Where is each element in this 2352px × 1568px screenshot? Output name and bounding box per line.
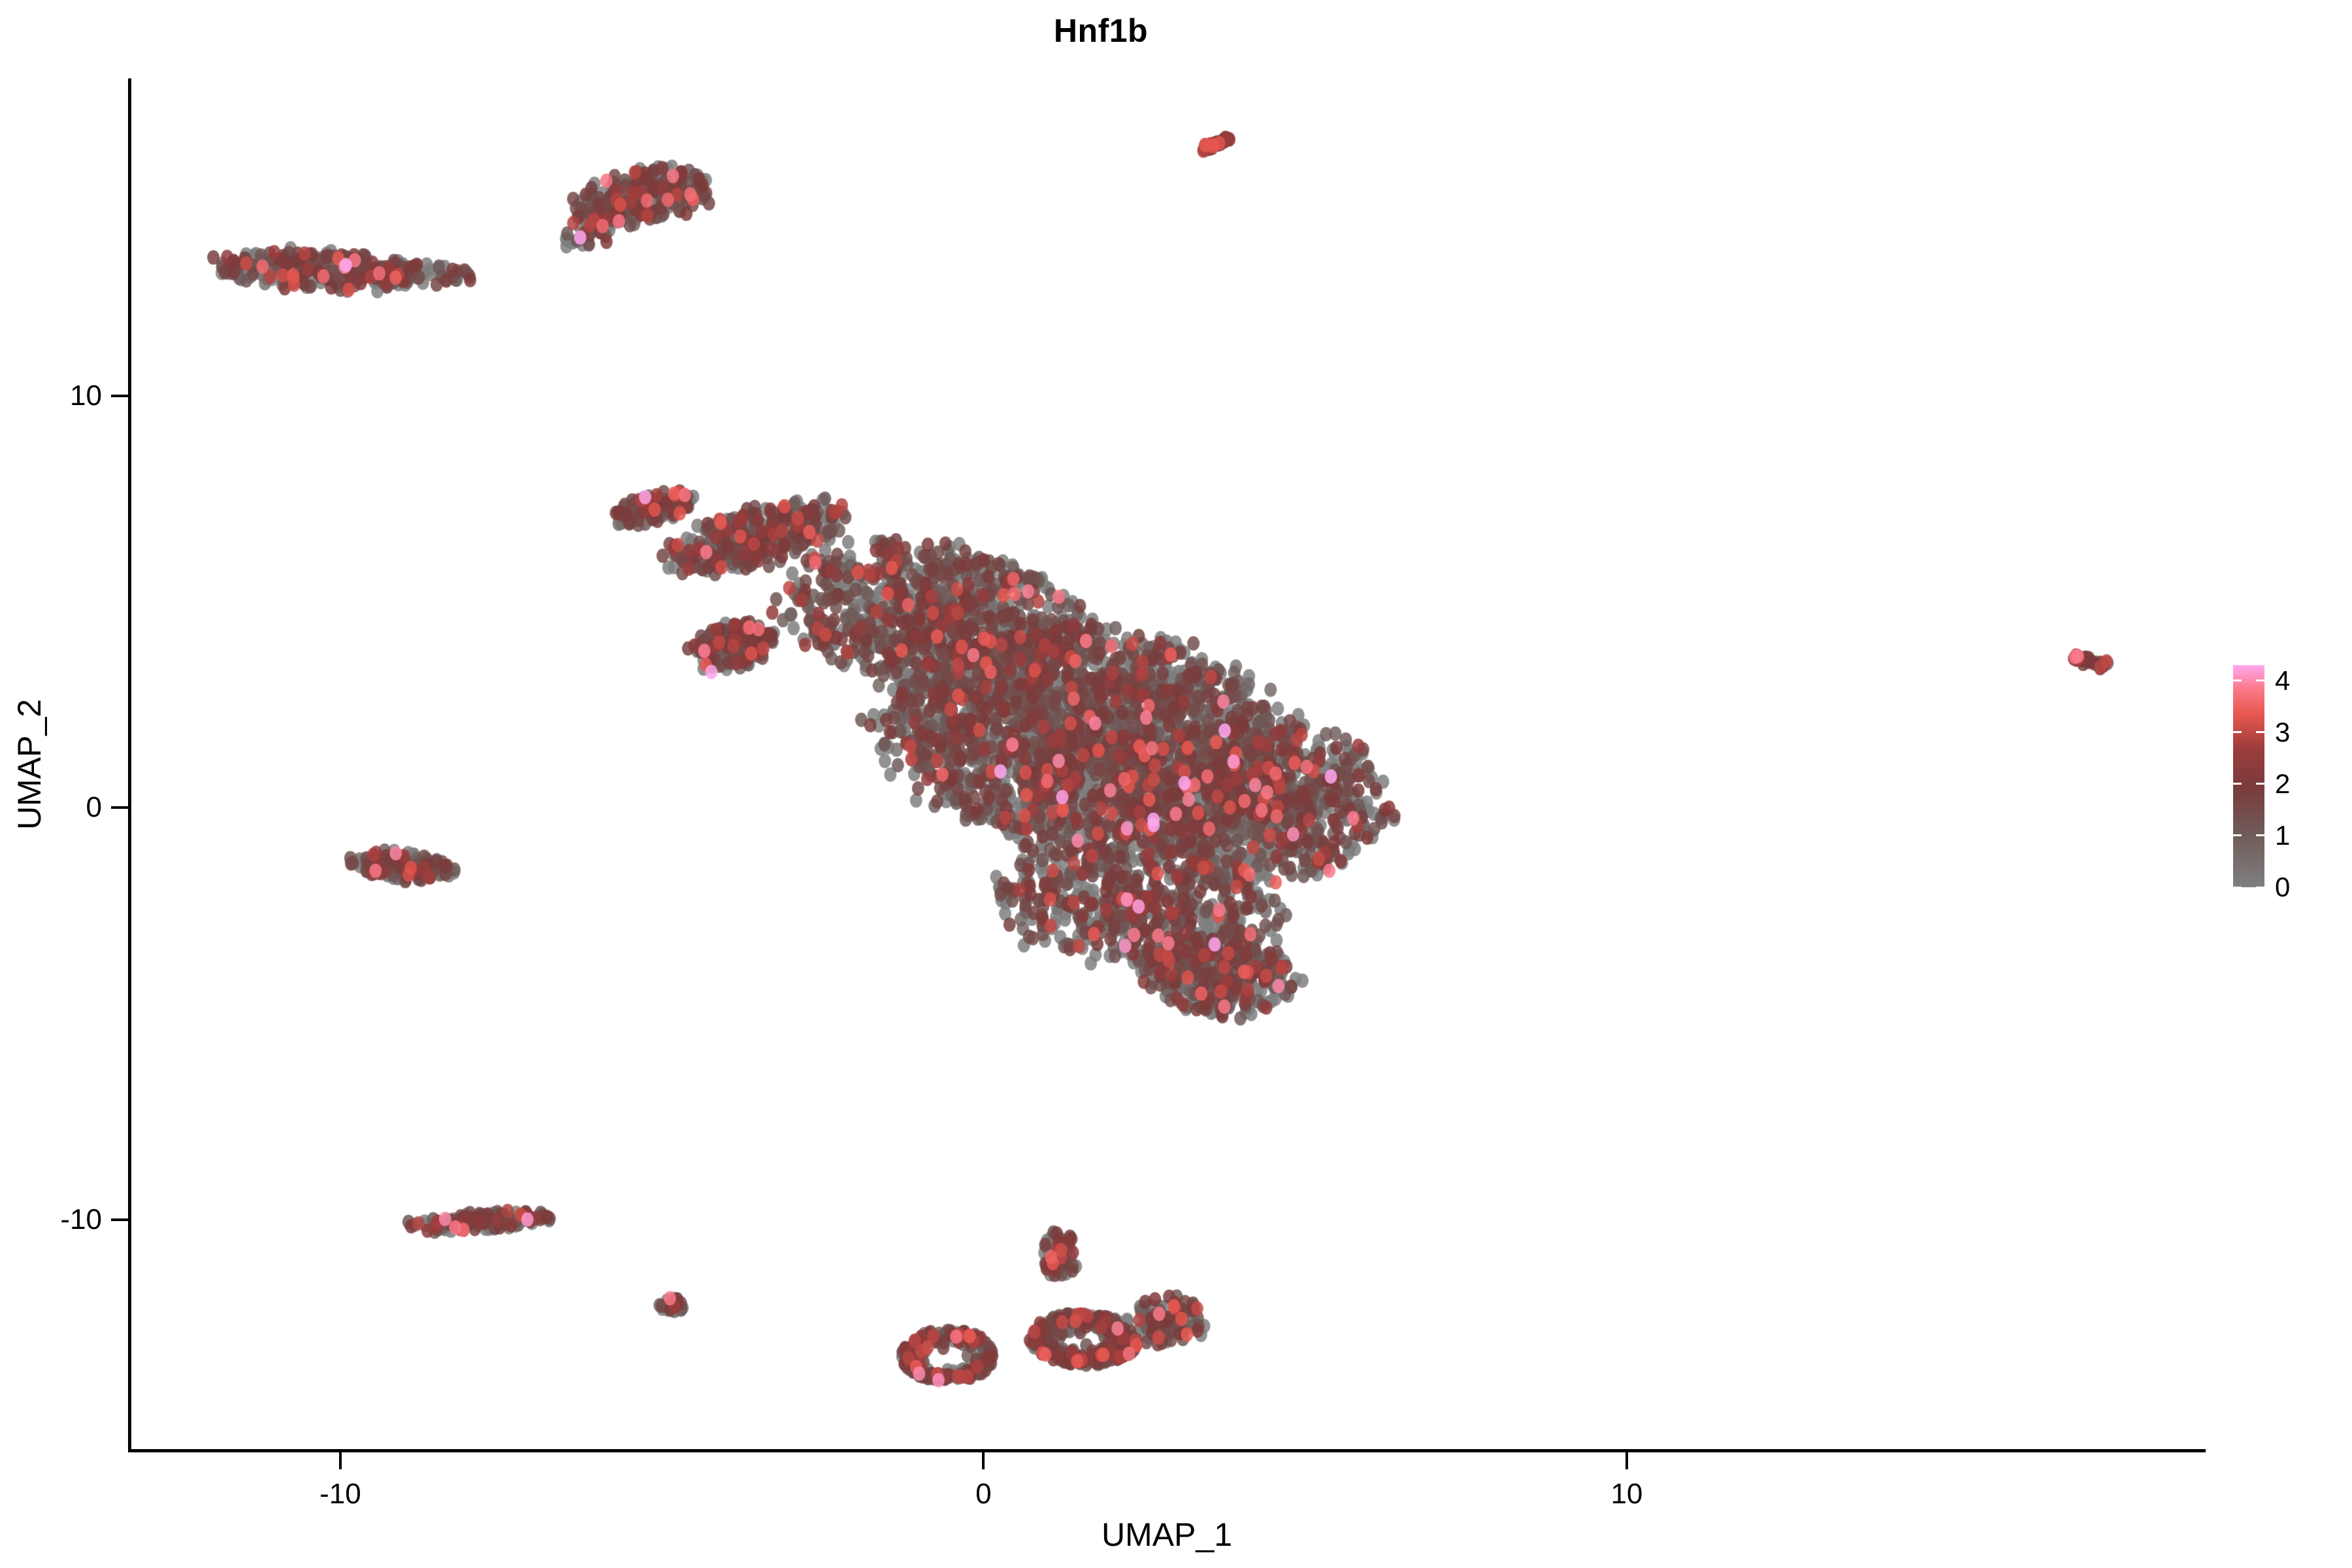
x-tick-mark <box>1625 1452 1628 1469</box>
colorbar-gradient <box>2233 665 2264 887</box>
y-axis-line <box>128 78 131 1450</box>
colorbar-label: 2 <box>2275 768 2290 800</box>
x-tick-mark <box>339 1452 342 1469</box>
x-axis-line <box>128 1449 2206 1452</box>
y-tick-mark <box>111 806 128 809</box>
page-title: Hnf1b <box>0 12 2202 50</box>
y-tick-label: 0 <box>86 791 102 824</box>
y-tick-mark <box>111 395 128 397</box>
x-axis-title: UMAP_1 <box>128 1516 2206 1554</box>
x-tick-label: 0 <box>975 1478 991 1511</box>
colorbar-tick-mark <box>2233 783 2242 785</box>
colorbar-tick-mark <box>2256 679 2264 681</box>
y-axis-title: UMAP_2 <box>0 0 59 1529</box>
colorbar-tick-mark <box>2256 834 2264 836</box>
y-tick-label: 10 <box>70 380 102 412</box>
x-tick-mark <box>982 1452 985 1469</box>
x-tick-label: -10 <box>319 1478 361 1511</box>
colorbar-label: 1 <box>2275 820 2290 851</box>
colorbar-tick-mark <box>2256 887 2264 889</box>
y-tick-mark <box>111 1218 128 1221</box>
colorbar-label: 0 <box>2275 872 2290 903</box>
feature-plot: Hnf1b -10010-10010 UMAP_1 UMAP_2 01234 <box>0 0 2352 1568</box>
colorbar-tick-mark <box>2256 731 2264 733</box>
colorbar-legend: 01234 <box>2233 665 2338 900</box>
colorbar-tick-mark <box>2233 887 2242 889</box>
scatter-plot-canvas <box>128 78 2206 1450</box>
colorbar-label: 4 <box>2275 665 2290 696</box>
x-tick-label: 10 <box>1610 1478 1642 1511</box>
colorbar-tick-mark <box>2233 834 2242 836</box>
colorbar-label: 3 <box>2275 717 2290 748</box>
colorbar-tick-mark <box>2233 731 2242 733</box>
colorbar-tick-mark <box>2233 679 2242 681</box>
y-tick-label: -10 <box>60 1203 102 1236</box>
colorbar-tick-mark <box>2256 783 2264 785</box>
